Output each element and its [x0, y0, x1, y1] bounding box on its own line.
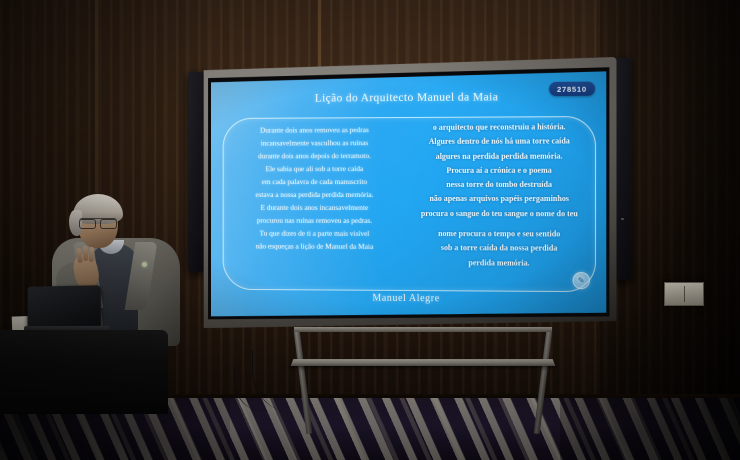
presentation-slide: Lição do Arquitecto Manuel da Maia 27851… — [211, 71, 606, 319]
poem-line: em cada palavra de cada manuscrito — [262, 175, 367, 188]
laptop-screen[interactable] — [28, 285, 101, 330]
presenter-finger — [89, 247, 95, 262]
poem-columns: Durante dois anos removeu as pedras inca… — [227, 120, 590, 286]
poem-line: procurou nas ruínas removeu as pedras. — [257, 214, 372, 227]
poem-line: algures na perdida perdida memória. — [436, 149, 563, 164]
poem-line: incansavelmente vasculhou as ruínas — [261, 136, 368, 149]
poem-line: Ele sabia que ali sob a torre caída — [266, 162, 364, 175]
poem-line: estava a nossa perdida perdida memória. — [255, 188, 373, 201]
poem-line: nome procura o tempo e seu sentido — [438, 227, 560, 242]
poem-line: Tu que dizes de ti a parte mais visível — [260, 227, 370, 240]
poem-line: Procura aí a crónica e o poema — [446, 164, 551, 179]
presentation-photo-scene: Lição do Arquitecto Manuel da Maia 27851… — [0, 0, 740, 460]
stand-shelf — [291, 359, 556, 366]
lapel-pin-icon — [142, 262, 147, 267]
carpet-shadow-right — [560, 398, 740, 460]
speaker-led-icon — [621, 218, 623, 221]
poem-line: o arquitecto que reconstruiu a história. — [433, 120, 566, 135]
presenter-finger — [83, 246, 89, 261]
slide-author: Manuel Alegre — [211, 292, 606, 306]
poem-line: procura o sangue do teu sangue o nome do… — [421, 207, 578, 222]
display-screen[interactable]: Lição do Arquitecto Manuel da Maia 27851… — [211, 71, 606, 319]
poem-line: sob a torre caída da nossa perdida — [441, 241, 557, 256]
poem-line: nessa torre do tombo destruída — [446, 178, 552, 192]
draped-table — [0, 330, 168, 414]
wall-outlet-plate — [664, 282, 704, 306]
interactive-flat-panel[interactable]: Lição do Arquitecto Manuel da Maia 27851… — [201, 57, 616, 332]
poem-line: Durante dois anos removeu as pedras — [260, 123, 369, 136]
poem-column-left: Durante dois anos removeu as pedras inca… — [227, 121, 403, 285]
slide-number-badge[interactable]: 278510 — [549, 82, 595, 96]
poem-line: durante dois anos depois do terramoto. — [258, 149, 371, 162]
slide-title: Lição do Arquitecto Manuel da Maia — [211, 91, 606, 106]
poem-line: não apenas arquivos papéis pergaminhos — [429, 192, 568, 206]
poem-line: perdida memória. — [468, 256, 529, 271]
poem-line: não esqueças a lição de Manuel da Maia — [256, 240, 374, 253]
eyeglasses-icon — [79, 218, 117, 228]
edit-pen-icon[interactable]: ✎ — [573, 272, 590, 289]
poem-line: Algures dentro de nós há uma torre caída — [429, 135, 570, 150]
poem-column-right: o arquitecto que reconstruiu a história.… — [409, 120, 590, 286]
poem-line: E durante dois anos incansavelmente — [261, 201, 369, 214]
